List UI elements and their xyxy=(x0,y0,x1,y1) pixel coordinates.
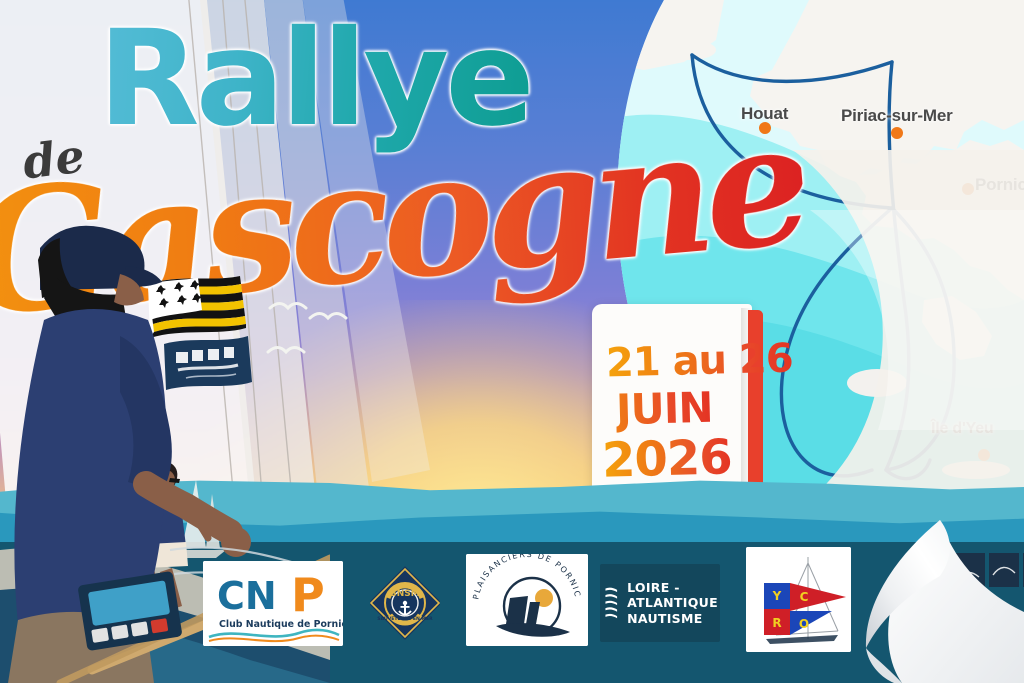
snsm-logo-svg: SNSM SAUVETEURS EN MER xyxy=(370,565,440,641)
poster-canvas: Houat Piriac-sur-Mer Pornic Île d'Yeu Ra… xyxy=(0,0,1024,683)
cnp-mark-cn: CN xyxy=(217,574,277,618)
date-line-days: 21 au 26 xyxy=(605,336,793,387)
logo-plaisanciers-de-pornic[interactable]: PLAISANCIERS DE PORNIC xyxy=(466,554,588,646)
logo-snsm[interactable]: SNSM SAUVETEURS EN MER xyxy=(370,565,440,641)
lan-line-1: LOIRE - xyxy=(627,580,718,596)
lan-wave-icon xyxy=(604,581,620,625)
logo-yacht-club[interactable]: Y C R O xyxy=(746,547,851,652)
snsm-mark: SNSM xyxy=(390,589,419,599)
date-book: 21 au 26 JUIN 2026 xyxy=(592,300,782,512)
logo-club-nautique-de-pornic[interactable]: CN P Club Nautique de Pornic xyxy=(203,561,343,646)
lan-line-3: NAUTISME xyxy=(627,611,718,627)
ycro-logo-svg: Y C R O xyxy=(746,547,851,652)
page-curl xyxy=(844,520,1024,683)
lan-line-2: ATLANTIQUE xyxy=(627,595,718,611)
ycro-letter-y: Y xyxy=(772,589,782,603)
ycro-letter-o: O xyxy=(799,617,809,631)
lan-text-block: LOIRE - ATLANTIQUE NAUTISME xyxy=(627,580,718,627)
ycro-letter-r: R xyxy=(772,616,781,630)
cnp-logo-svg: CN P Club Nautique de Pornic xyxy=(203,561,343,646)
cnp-mark-p: P xyxy=(291,568,325,622)
ycro-letter-c: C xyxy=(800,590,809,604)
map-label-piriac: Piriac-sur-Mer xyxy=(841,106,953,126)
date-line-year: 2026 xyxy=(601,429,732,488)
logo-loire-atlantique-nautisme[interactable]: LOIRE - ATLANTIQUE NAUTISME xyxy=(600,564,720,642)
snsm-tagline: SAUVETEURS EN MER xyxy=(377,616,433,622)
date-line-month: JUIN xyxy=(615,383,713,435)
cnp-tagline: Club Nautique de Pornic xyxy=(219,619,343,630)
pdp-logo-svg: PLAISANCIERS DE PORNIC xyxy=(466,554,588,646)
